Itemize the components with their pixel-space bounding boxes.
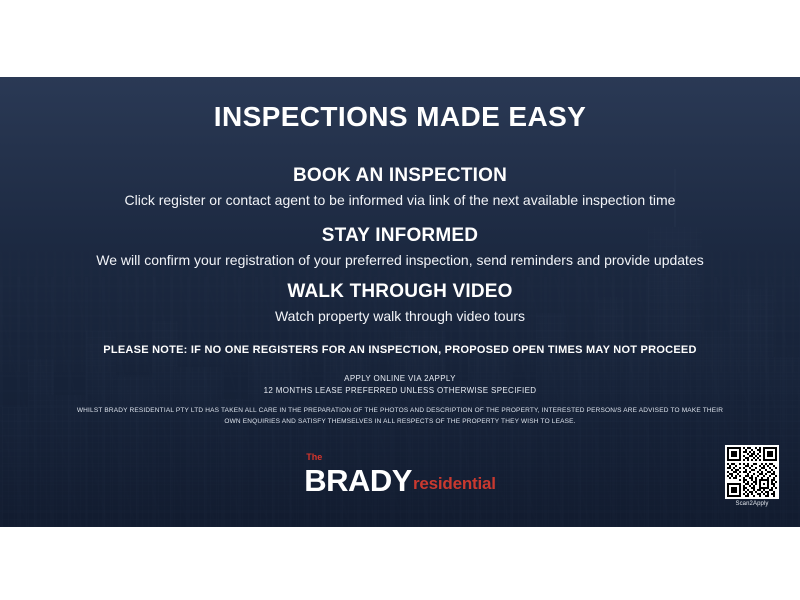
logo-the-text: The: [306, 452, 322, 462]
apply-online-line: APPLY ONLINE VIA 2APPLY: [0, 373, 800, 385]
inspection-info-panel: INSPECTIONS MADE EASY BOOK AN INSPECTION…: [0, 77, 800, 527]
legal-disclaimer: WHILST BRADY RESIDENTIAL PTY LTD HAS TAK…: [60, 405, 740, 427]
qr-code-icon[interactable]: [725, 445, 779, 499]
disclaimer-line-1: WHILST BRADY RESIDENTIAL PTY LTD HAS TAK…: [60, 405, 740, 416]
section-walk-through-video: WALK THROUGH VIDEO Watch property walk t…: [0, 281, 800, 326]
section-subtitle-book: Click register or contact agent to be in…: [0, 190, 800, 210]
apply-details: APPLY ONLINE VIA 2APPLY 12 MONTHS LEASE …: [0, 373, 800, 397]
logo-brady-text: BRADY: [304, 465, 412, 497]
section-subtitle-stay-informed: We will confirm your registration of you…: [0, 250, 800, 270]
section-title-book: BOOK AN INSPECTION: [0, 165, 800, 187]
panel-content: INSPECTIONS MADE EASY BOOK AN INSPECTION…: [0, 77, 800, 527]
logo-residential-text: residential: [413, 473, 496, 497]
section-title-stay-informed: STAY INFORMED: [0, 225, 800, 247]
scan2apply-qr-block[interactable]: Scan2Apply: [722, 445, 782, 507]
page-title: INSPECTIONS MADE EASY: [0, 101, 800, 133]
qr-code-label: Scan2Apply: [722, 501, 782, 507]
section-stay-informed: STAY INFORMED We will confirm your regis…: [0, 225, 800, 270]
brady-residential-logo: The BRADY residential: [0, 465, 800, 505]
lease-term-line: 12 MONTHS LEASE PREFERRED UNLESS OTHERWI…: [0, 385, 800, 397]
please-note-text: PLEASE NOTE: IF NO ONE REGISTERS FOR AN …: [0, 344, 800, 356]
section-book-an-inspection: BOOK AN INSPECTION Click register or con…: [0, 165, 800, 210]
section-subtitle-walk-through-video: Watch property walk through video tours: [0, 306, 800, 326]
section-title-walk-through-video: WALK THROUGH VIDEO: [0, 281, 800, 303]
disclaimer-line-2: OWN ENQUIRIES AND SATISFY THEMSELVES IN …: [60, 416, 740, 427]
poster-page: INSPECTIONS MADE EASY BOOK AN INSPECTION…: [0, 0, 800, 600]
